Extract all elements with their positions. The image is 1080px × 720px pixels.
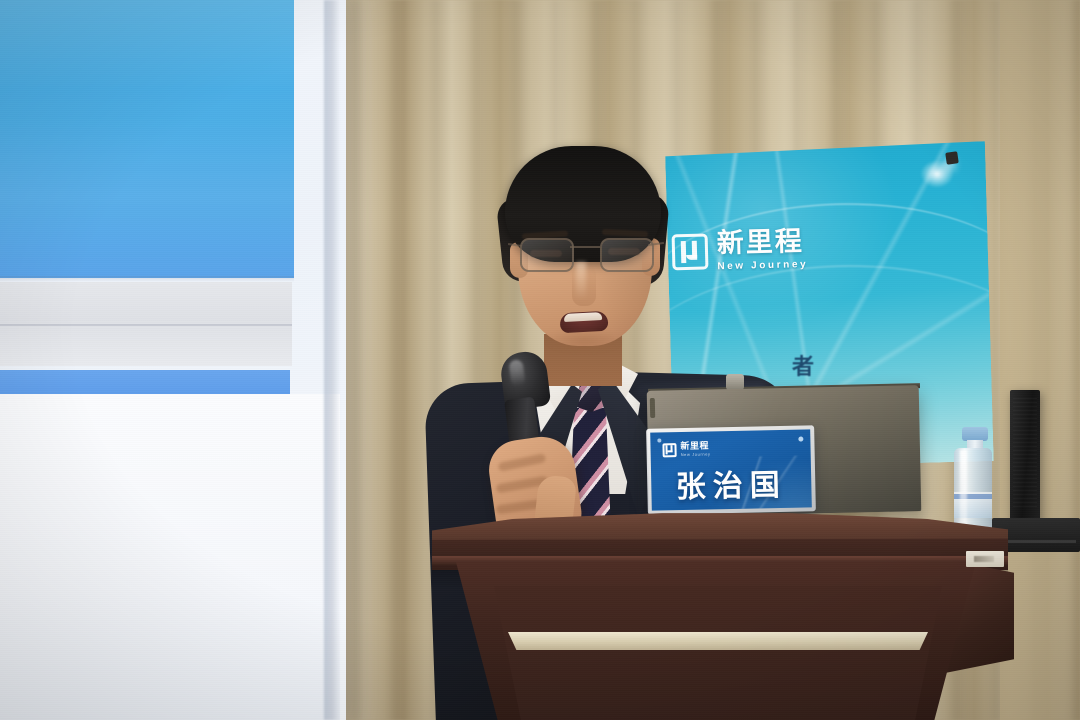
- speaker-base-seam: [996, 540, 1076, 543]
- laptop-clamp: [726, 374, 744, 390]
- slide-grey-divider: [0, 324, 292, 326]
- lectern-front-face: [494, 586, 942, 720]
- water-bottle-highlight: [960, 450, 967, 534]
- screen-right-edge: [324, 0, 340, 720]
- nameplate-dot-right: [798, 436, 803, 441]
- nameplate-card: 新里程 New Journey 张治国: [650, 429, 812, 510]
- lectern-accent-band: [508, 632, 928, 650]
- water-bottle-cap: [962, 427, 988, 441]
- laptop-edge-tab: [650, 398, 655, 418]
- conference-photo: 新里程 New Journey 者: [0, 0, 1080, 720]
- nameplate-brand-english: New Journey: [681, 452, 711, 457]
- nameplate-speaker-name: 张治国: [651, 459, 812, 506]
- nose-highlight: [576, 262, 586, 300]
- slide-lower-area: [0, 394, 340, 720]
- lens-right: [600, 238, 654, 272]
- nameplate-logo: 新里程 New Journey: [662, 441, 710, 457]
- lens-left: [520, 238, 574, 272]
- speaker-nameplate: 新里程 New Journey 张治国: [650, 429, 812, 510]
- banner-clip-icon: [945, 151, 959, 165]
- nameplate-dot-left: [657, 438, 661, 442]
- chin-shading: [546, 330, 622, 352]
- nj-monogram-icon: [662, 443, 676, 457]
- glasses-bridge: [570, 246, 600, 248]
- presentation-screen: [0, 0, 346, 720]
- speaker-column-grille: [1013, 398, 1037, 510]
- slide-main-sheen: [0, 0, 294, 278]
- nameplate-brand-chinese: 新里程: [680, 441, 710, 451]
- lectern-label-mark: [974, 556, 994, 562]
